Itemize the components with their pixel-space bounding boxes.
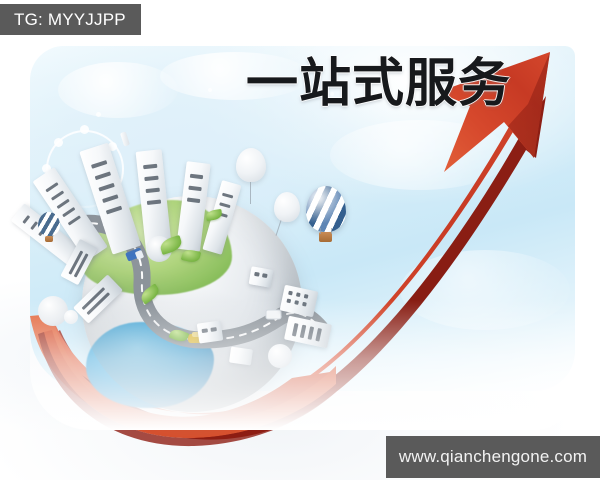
banner-canvas: 一站式服务 TG: MYYJJPP www.qianchengone.com [0, 0, 600, 480]
building-window [62, 207, 75, 217]
telegram-watermark-label: TG: MYYJJPP [14, 10, 126, 30]
building-window [187, 198, 200, 204]
building-window [57, 199, 70, 209]
building-window [106, 206, 122, 215]
balloon-rope [331, 228, 332, 234]
balloon-rope [320, 228, 321, 234]
building-small-house [249, 266, 274, 288]
building-window [143, 164, 157, 169]
building-window [102, 194, 118, 203]
balloon-string [250, 182, 251, 204]
building-window [45, 182, 58, 192]
website-watermark-label: www.qianchengone.com [399, 447, 587, 467]
building-window [262, 273, 268, 278]
white-balloon [236, 148, 266, 182]
building-window [98, 183, 114, 192]
building-window [91, 160, 107, 169]
building-window [147, 200, 161, 205]
building-window [68, 215, 81, 225]
building-window [188, 186, 201, 192]
website-watermark-badge: www.qianchengone.com [386, 436, 600, 478]
striped-hot-air-balloon [306, 186, 346, 232]
building-window [30, 221, 38, 230]
building-window [219, 202, 230, 208]
building-window [95, 171, 111, 180]
telegram-watermark-badge: TG: MYYJJPP [0, 4, 141, 35]
page-title: 一站式服务 [246, 58, 536, 110]
building-window [144, 176, 158, 181]
building-window [304, 294, 309, 299]
white-balloon [274, 192, 300, 222]
balloon-basket [45, 236, 53, 242]
building-window [146, 188, 160, 193]
small-hot-air-balloon [38, 212, 60, 236]
panel-bottom-fade [30, 300, 575, 430]
building-window [22, 215, 30, 224]
building-window [288, 291, 293, 296]
building-window [254, 272, 260, 277]
building-window [296, 292, 301, 297]
building-window [222, 193, 233, 199]
building-window [190, 174, 203, 180]
building-window [51, 190, 64, 200]
